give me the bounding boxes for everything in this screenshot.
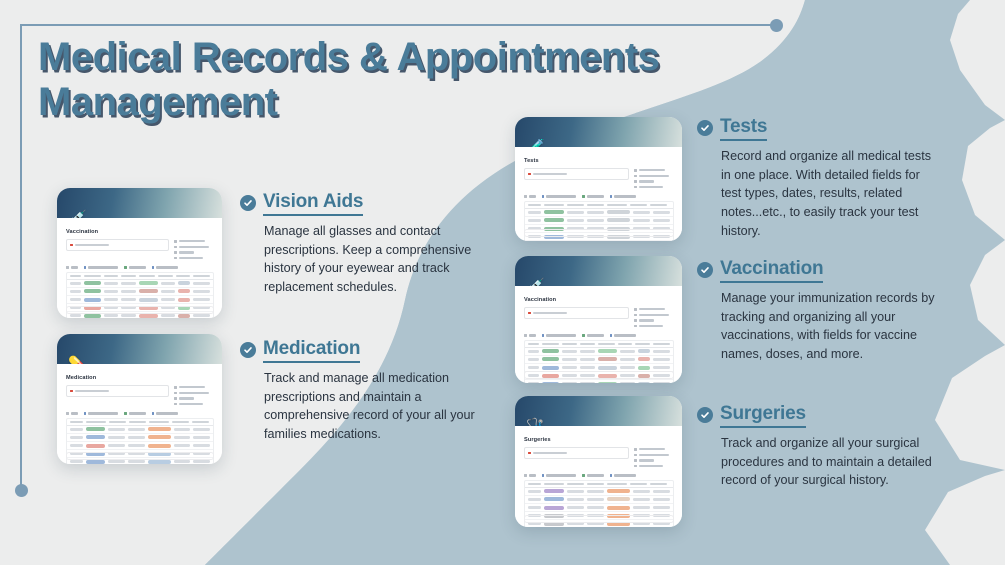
card-side-link-label [639,186,663,188]
table-cell [174,460,191,463]
card-side-link[interactable] [634,454,674,457]
card-view-tab[interactable] [610,334,637,337]
card-app-title: Vaccination [524,297,674,303]
card-view-tab[interactable] [66,266,78,269]
search-icon [70,390,73,393]
card-app-title: Medication [66,375,214,381]
app-screenshot-card-surgeries[interactable]: 🩺 Surgeries [515,396,682,527]
table-column-header [129,421,146,423]
card-view-tab[interactable] [152,266,179,269]
bullet-icon [634,169,637,172]
category-badge [148,435,171,439]
table-column-header [650,483,667,485]
card-side-link[interactable] [634,186,674,189]
table-cell [587,506,604,509]
bullet-icon [174,246,177,249]
check-circle-icon [697,120,713,136]
card-side-link-label [179,392,209,394]
card-side-link-label [179,246,209,248]
status-badge [542,357,559,361]
tab-label [88,412,118,414]
table-cell [161,298,175,301]
card-side-link-label [639,325,663,327]
tab-label [587,334,604,336]
table-cell [70,436,83,439]
table-cell [633,506,650,509]
table-column-header [618,343,633,345]
search-placeholder [533,173,567,175]
card-view-tabs[interactable] [66,412,214,415]
card-side-link-label [179,257,203,259]
table-cell [653,358,670,361]
card-side-link-label [639,459,654,461]
table-row[interactable] [67,434,213,442]
card-banner: 🩺 [515,396,682,426]
table-row[interactable] [67,296,213,304]
card-top-row [66,239,214,259]
table-header-row [525,481,673,488]
card-side-link[interactable] [634,169,674,172]
card-view-tab[interactable] [542,474,577,477]
table-row[interactable] [525,380,673,383]
table-column-header [172,421,189,423]
table-cell [633,219,650,222]
tab-icon [84,266,87,269]
table-column-header [587,483,604,485]
bullet-icon [634,448,637,451]
card-view-tab[interactable] [124,266,146,269]
decorative-dot-right [770,19,783,32]
table-cell [528,498,541,501]
table-cell [193,460,210,463]
feature-title[interactable]: Medication [263,338,360,363]
table-cell [562,382,577,383]
search-placeholder [75,244,109,246]
table-cell [193,290,210,293]
tab-icon [542,474,545,477]
feature-heading: Tests [697,116,942,141]
card-bottom-bar [524,515,674,523]
table-cell [653,366,670,369]
decorative-line-horizontal [20,24,777,26]
tab-icon [610,334,613,337]
status-badge [544,506,564,510]
card-search-input[interactable] [524,447,629,459]
status-badge [84,289,101,293]
table-cell [580,382,595,383]
card-content: Vaccination [515,286,682,383]
table-cell [587,219,604,222]
card-view-tab[interactable] [524,195,536,198]
feature-heading: Medication [240,338,480,363]
table-column-header [149,421,169,423]
table-cell [567,211,584,214]
table-column-header [70,421,83,423]
table-cell [567,219,584,222]
table-column-header [607,483,627,485]
table-column-header [121,275,135,277]
feature-title[interactable]: Vision Aids [263,191,363,216]
feature-heading: Vaccination [697,258,949,283]
card-side-link-label [639,314,669,316]
card-view-tabs[interactable] [524,334,674,337]
check-circle-icon [240,195,256,211]
tab-icon [66,266,69,269]
table-column-header [630,204,647,206]
bullet-icon [174,386,177,389]
table-cell [587,498,604,501]
table-header-row [525,341,673,348]
table-cell [587,211,604,214]
card-banner: 🧪 [515,117,682,147]
status-badge [86,460,106,464]
card-side-link[interactable] [174,257,214,260]
card-view-tab[interactable] [582,195,604,198]
tab-label [546,334,576,336]
card-app-title: Vaccination [66,229,214,235]
table-cell [128,444,145,447]
card-side-link[interactable] [174,403,214,406]
status-badge [84,298,101,302]
category-badge [139,314,158,318]
card-side-link-label [179,251,194,253]
table-cell [70,444,83,447]
category-badge [598,366,618,370]
tab-icon [542,334,545,337]
bullet-icon [174,257,177,260]
table-cell [128,436,145,439]
app-screenshot-card-vaccination[interactable]: 💉 Vaccination [57,188,222,318]
table-column-header [104,275,118,277]
card-side-link[interactable] [634,319,674,322]
card-view-tabs[interactable] [524,474,674,477]
category-badge [148,460,171,464]
category-badge [598,382,618,383]
table-row[interactable] [67,426,213,434]
card-content: Surgeries [515,426,682,527]
app-screenshot-card-medication[interactable]: 💊 Medication [57,334,222,464]
page-title: Medical Records & Appointments Managemen… [38,35,698,125]
table-cell [528,382,539,383]
table-cell [121,290,135,293]
bullet-icon [174,392,177,395]
date-badge [178,281,190,285]
table-cell [70,428,83,431]
table-cell [528,211,541,214]
card-side-link[interactable] [634,314,674,317]
category-badge [598,349,618,353]
table-column-header [653,343,670,345]
table-column-header [109,421,126,423]
tab-label [614,195,636,197]
tab-label [546,195,576,197]
table-column-header [544,204,564,206]
feature-block-vision-aids: Vision Aids Manage all glasses and conta… [240,191,495,297]
card-banner: 💉 [515,256,682,286]
search-placeholder [533,312,567,314]
table-cell [620,382,635,383]
card-side-link[interactable] [634,465,674,468]
decorative-line-vertical [20,24,22,490]
tab-icon [582,195,585,198]
table-row[interactable] [67,442,213,450]
app-screenshot-card-vaccination-2[interactable]: 💉 Vaccination [515,256,682,383]
card-side-links [634,447,674,467]
card-search-input[interactable] [66,239,169,251]
app-screenshot-card-tests[interactable]: 🧪 Tests [515,117,682,241]
table-column-header [544,483,564,485]
table-cell [633,498,650,501]
card-side-link[interactable] [634,459,674,462]
check-circle-icon [697,407,713,423]
table-cell [562,350,577,353]
tab-icon [152,266,155,269]
card-side-link[interactable] [634,325,674,328]
table-cell [567,490,584,493]
tab-icon [610,195,613,198]
table-row[interactable] [525,504,673,512]
feature-block-medication: Medication Track and manage all medicati… [240,338,480,444]
card-bottom-bar [524,371,674,379]
card-view-tab[interactable] [84,412,119,415]
date-badge [178,298,190,302]
card-side-link[interactable] [634,448,674,451]
date-badge [638,366,650,370]
card-content: Medication [57,364,222,464]
table-cell [104,298,118,301]
bullet-icon [634,319,637,322]
table-row[interactable] [525,348,673,356]
status-badge [544,497,564,501]
table-cell [70,298,81,301]
card-bottom-bar [66,306,214,314]
table-header-row [67,273,213,280]
status-badge [84,314,101,318]
feature-description: Record and organize all medical tests in… [697,147,942,241]
date-badge [638,357,650,361]
table-cell [528,506,541,509]
table-cell [587,490,604,493]
table-cell [620,350,635,353]
table-cell [108,428,125,431]
category-badge [148,427,171,431]
table-cell [161,282,175,285]
table-cell [528,219,541,222]
table-cell [174,436,191,439]
table-column-header [630,483,647,485]
table-column-header [528,483,541,485]
table-cell [633,490,650,493]
card-view-tab[interactable] [152,412,179,415]
feature-title[interactable]: Surgeries [720,403,806,428]
card-search-input[interactable] [66,385,169,397]
card-side-link[interactable] [174,386,214,389]
table-row[interactable] [525,209,673,217]
table-cell [108,436,125,439]
table-cell [580,358,595,361]
card-top-row [524,307,674,327]
feature-description: Manage your immunization records by trac… [697,289,949,364]
card-side-link[interactable] [174,397,214,400]
tab-icon [542,195,545,198]
table-cell [121,314,135,317]
table-cell [653,211,670,214]
table-column-header [598,343,615,345]
table-row[interactable] [525,217,673,225]
category-badge [148,444,171,448]
date-badge [638,382,650,383]
card-view-tab[interactable] [84,266,119,269]
bullet-icon [634,308,637,311]
date-badge [178,289,190,293]
card-side-link[interactable] [634,308,674,311]
card-side-link-label [639,465,663,467]
table-row[interactable] [525,488,673,496]
bullet-icon [634,459,637,462]
status-badge [544,218,564,222]
table-cell [653,490,670,493]
card-side-links [634,307,674,327]
tab-label [614,334,636,336]
card-bottom-bar [524,229,674,237]
table-cell [620,358,635,361]
card-view-tab[interactable] [66,412,78,415]
search-icon [528,452,531,455]
card-view-tab[interactable] [610,195,637,198]
card-side-link[interactable] [174,392,214,395]
card-content: Tests [515,147,682,241]
card-top-row [524,447,674,467]
status-badge [86,435,106,439]
card-side-link-label [179,386,205,388]
feature-heading: Surgeries [697,403,937,428]
card-view-tab[interactable] [582,334,604,337]
card-view-tab[interactable] [542,195,577,198]
table-cell [653,382,670,383]
table-cell [193,444,210,447]
table-cell [121,282,135,285]
table-column-header [86,421,106,423]
table-cell [653,350,670,353]
table-cell [580,366,595,369]
card-view-tab[interactable] [610,474,637,477]
table-cell [104,290,118,293]
card-view-tab[interactable] [124,412,146,415]
bullet-icon [634,454,637,457]
table-column-header [587,204,604,206]
card-content: Vaccination [57,218,222,318]
table-header-row [67,419,213,426]
tab-icon [66,412,69,415]
table-column-header [193,275,210,277]
table-cell [108,460,125,463]
card-view-tab[interactable] [524,334,536,337]
table-row[interactable] [525,496,673,504]
card-search-input[interactable] [524,307,629,319]
tab-icon [610,474,613,477]
bullet-icon [174,397,177,400]
table-column-header [562,343,577,345]
feature-title[interactable]: Tests [720,116,767,141]
card-side-links [174,239,214,259]
card-app-title: Surgeries [524,437,674,443]
card-view-tab[interactable] [582,474,604,477]
card-top-row [524,168,674,188]
card-side-link-label [639,319,654,321]
card-side-link[interactable] [634,180,674,183]
card-side-link[interactable] [174,251,214,254]
table-cell [528,366,539,369]
feature-block-vaccination: Vaccination Manage your immunization rec… [697,258,949,364]
feature-heading: Vision Aids [240,191,495,216]
tab-icon [524,474,527,477]
table-cell [653,506,670,509]
tab-icon [524,334,527,337]
bullet-icon [174,403,177,406]
table-column-header [528,343,539,345]
tab-label [71,266,78,268]
card-search-input[interactable] [524,168,629,180]
category-badge [607,489,630,493]
table-cell [633,211,650,214]
status-badge [86,444,106,448]
card-side-links [634,168,674,188]
card-view-tab[interactable] [542,334,577,337]
category-badge [607,497,630,501]
table-cell [104,314,118,317]
tab-label [529,195,536,197]
card-side-link-label [179,240,205,242]
card-view-tab[interactable] [524,474,536,477]
card-side-link[interactable] [634,175,674,178]
table-column-header [580,343,595,345]
table-cell [70,290,81,293]
bullet-icon [634,180,637,183]
search-placeholder [75,390,109,392]
card-view-tabs[interactable] [66,266,214,269]
bullet-icon [174,240,177,243]
card-side-link[interactable] [174,240,214,243]
table-cell [620,366,635,369]
tab-icon [582,334,585,337]
tab-label [129,266,146,268]
category-badge [139,281,158,285]
tab-label [529,334,536,336]
table-cell [108,444,125,447]
check-circle-icon [697,262,713,278]
tab-icon [582,474,585,477]
table-row[interactable] [525,356,673,364]
bullet-icon [634,325,637,328]
table-column-header [528,204,541,206]
card-view-tabs[interactable] [524,195,674,198]
table-cell [193,298,210,301]
card-side-link[interactable] [174,246,214,249]
table-cell [128,460,145,463]
card-side-link-label [639,180,654,182]
table-row[interactable] [67,280,213,288]
table-cell [567,506,584,509]
table-row[interactable] [67,288,213,296]
status-badge [84,281,101,285]
table-cell [104,282,118,285]
feature-description: Track and manage all medication prescrip… [240,369,480,444]
feature-title[interactable]: Vaccination [720,258,823,283]
card-side-link-label [639,169,665,171]
category-badge [607,210,630,214]
tab-label [587,474,604,476]
table-cell [161,314,175,317]
